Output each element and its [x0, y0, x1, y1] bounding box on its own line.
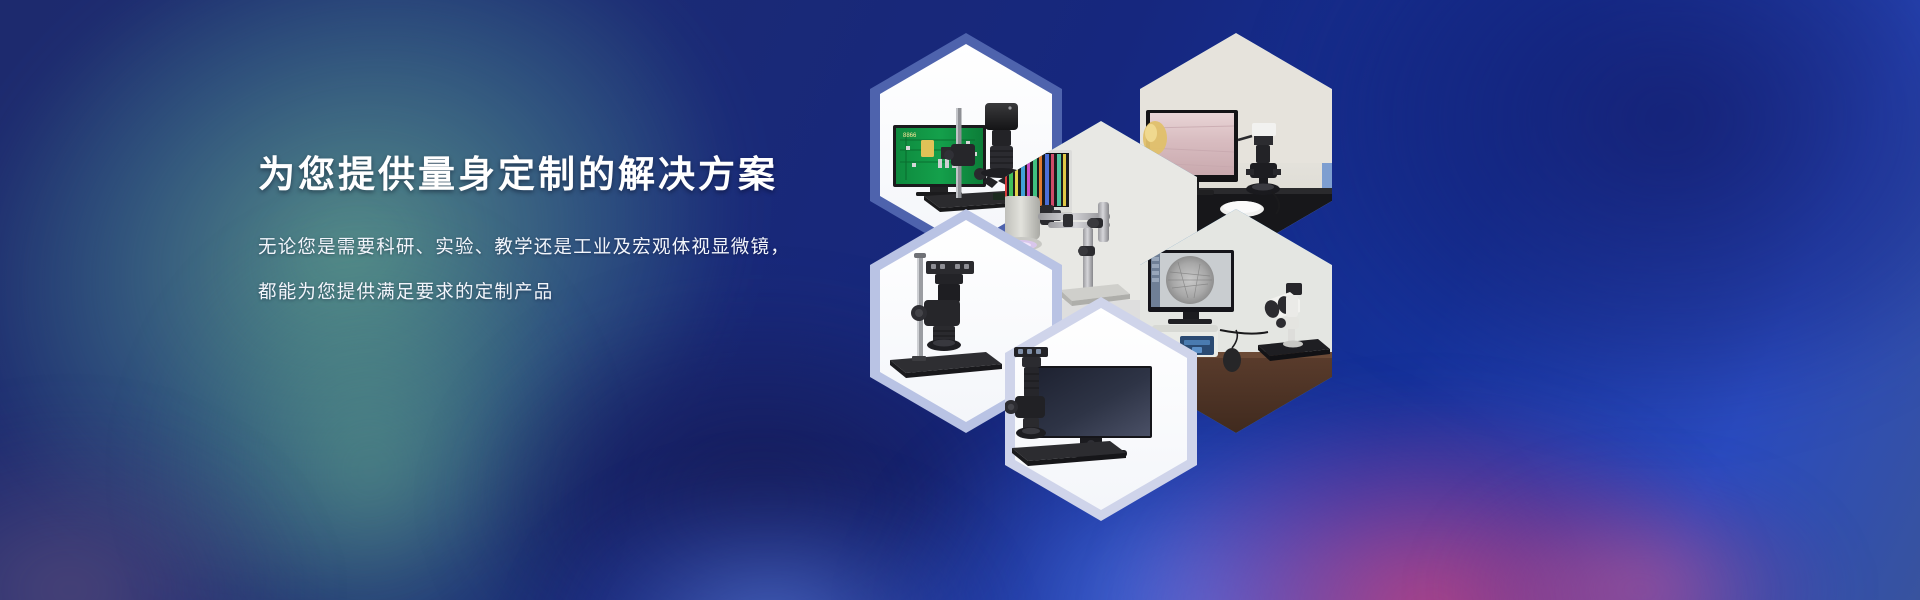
hexagon-cluster-svg: 8866 [0, 0, 1920, 600]
svg-text:8866: 8866 [903, 133, 917, 139]
hexagon-product-cluster: 8866 [0, 0, 1920, 600]
hero-banner: 为您提供量身定制的解决方案 无论您是需要科研、实验、教学还是工业及宏观体视显微镜… [0, 0, 1920, 600]
